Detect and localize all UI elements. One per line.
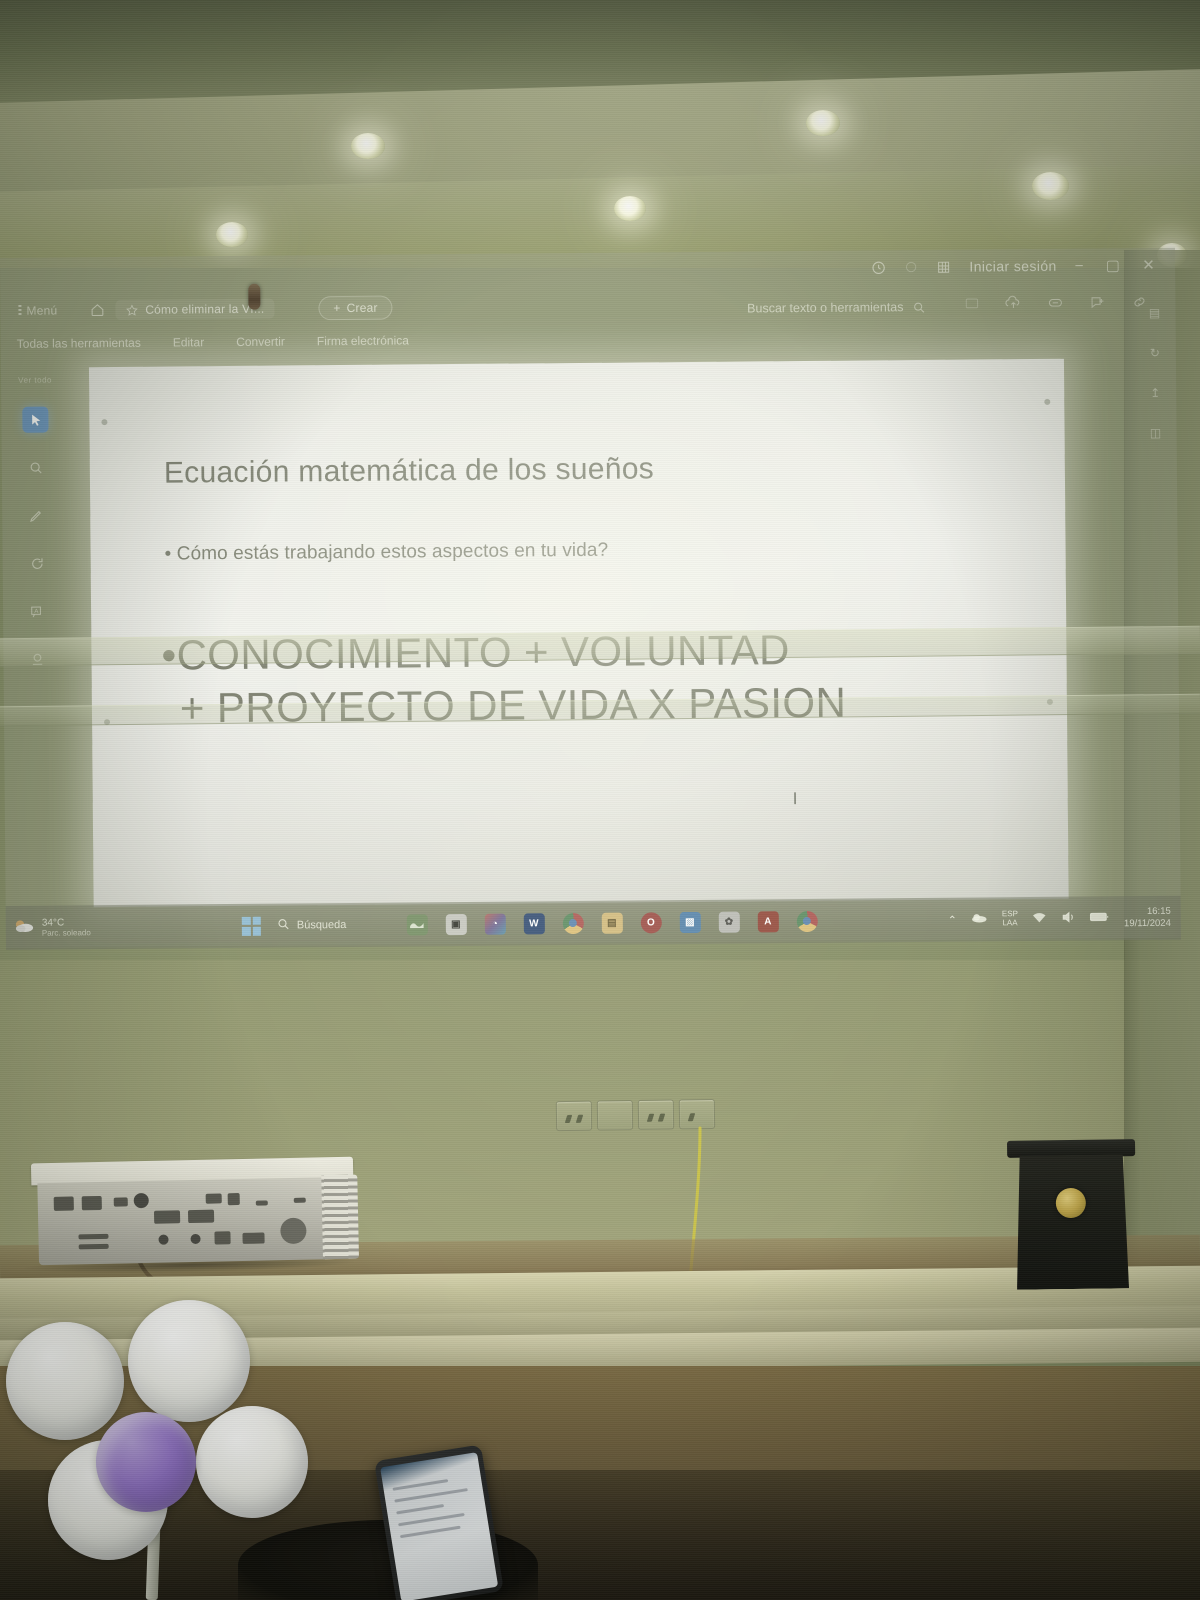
search-placeholder: Buscar texto o herramientas — [747, 300, 903, 315]
copilot-icon[interactable]: ◔ — [484, 913, 505, 934]
weather-condition: Parc. soleado — [42, 928, 91, 937]
taskbar-center: Búsqueda ▣ ◔ W ▤ O ▨ — [242, 910, 818, 936]
ceiling-light — [216, 222, 248, 247]
comment-tool[interactable] — [24, 551, 50, 577]
volume-icon[interactable] — [1061, 911, 1076, 927]
outlet-blank — [597, 1100, 633, 1130]
add-comment-icon[interactable] — [1089, 294, 1105, 310]
usb-port — [114, 1197, 128, 1206]
highlight-icon[interactable] — [1047, 295, 1063, 311]
outlet — [638, 1099, 674, 1129]
dpad-control — [280, 1218, 307, 1245]
placeholder-icon — [904, 260, 918, 274]
vent-grill-left-2 — [79, 1244, 109, 1250]
tablet-device[interactable] — [374, 1444, 504, 1600]
file-explorer-icon[interactable]: ▤ — [601, 912, 622, 933]
vga-port-1 — [154, 1210, 180, 1224]
acrobat-icon[interactable]: A — [757, 911, 778, 932]
sign-in-button[interactable]: Iniciar sesión — [969, 258, 1056, 275]
slide-bullet: • Cómo estás trabajando estos aspectos e… — [164, 540, 608, 566]
menu-label: Menú — [26, 304, 57, 318]
text-cursor: I — [793, 789, 798, 809]
hamburger-icon — [18, 305, 21, 317]
taskbar-clock[interactable]: 16:15 19/11/2024 — [1124, 906, 1171, 930]
serial-port — [82, 1196, 102, 1210]
ceiling-light — [351, 133, 385, 159]
usb-b-port — [214, 1231, 230, 1244]
wifi-icon[interactable] — [1032, 911, 1047, 926]
taskbar-app-icons: ▣ ◔ W ▤ O ▨ ✿ A — [406, 910, 817, 935]
search-icon — [277, 917, 290, 933]
zoom-tool[interactable] — [23, 455, 49, 481]
document-toolbar — [964, 294, 1147, 312]
weather-icon — [14, 917, 36, 938]
text-box-tool[interactable]: A — [24, 599, 50, 625]
button-menu — [256, 1200, 268, 1205]
taskbar-search[interactable]: Búsqueda — [277, 917, 347, 934]
rotate-icon[interactable]: ↻ — [1150, 346, 1160, 360]
page-marker — [101, 419, 107, 425]
balloon-white — [196, 1406, 308, 1518]
tablet-text-line — [392, 1479, 448, 1491]
lectern-body — [1015, 1154, 1129, 1290]
system-tray: ⌃ ESP LAA — [948, 906, 1171, 932]
draw-tool[interactable] — [23, 503, 49, 529]
vent-grill-left — [78, 1234, 108, 1240]
page-marker — [1044, 399, 1050, 405]
power-port — [228, 1193, 240, 1205]
svg-text:A: A — [34, 609, 38, 615]
vga-port-2 — [188, 1210, 214, 1224]
outlet-in-use — [679, 1099, 715, 1129]
export-icon[interactable]: ↥ — [1150, 386, 1160, 400]
widgets-icon[interactable] — [406, 914, 427, 935]
opera-icon[interactable]: O — [640, 912, 661, 933]
hdmi-port — [206, 1193, 222, 1203]
tablet-screen[interactable] — [380, 1452, 498, 1600]
language-indicator[interactable]: ESP LAA — [1002, 910, 1018, 928]
search-icon[interactable] — [912, 300, 925, 313]
clock-time: 16:15 — [1124, 906, 1171, 918]
tablet-text-line — [398, 1513, 465, 1526]
weather-temperature: 34°C — [42, 917, 91, 929]
serial-port-2 — [242, 1233, 264, 1244]
rail-label: Ver todo — [18, 376, 52, 385]
chrome-2-icon[interactable] — [796, 910, 817, 931]
chevron-up-icon[interactable]: ⌃ — [948, 913, 957, 926]
ceiling-light — [614, 196, 646, 221]
slide-title: Ecuación matemática de los sueños — [164, 452, 654, 490]
grid-icon[interactable] — [936, 259, 951, 274]
balloon-purple-center — [96, 1412, 196, 1512]
insect-on-wall — [248, 284, 260, 310]
language-line2: LAA — [1002, 919, 1018, 928]
chrome-icon[interactable] — [562, 912, 583, 933]
home-icon[interactable] — [89, 302, 105, 318]
balloon-white — [6, 1322, 124, 1440]
menu-item-all-tools[interactable]: Todas las herramientas — [17, 336, 141, 351]
tab-label: Cómo eliminar la VI... — [145, 302, 264, 317]
room-scene: Iniciar sesión − ▢ ✕ Menú — [0, 0, 1200, 1600]
weather-widget[interactable]: 34°C Parc. soleado — [14, 917, 91, 939]
ceiling-light — [806, 110, 840, 136]
taskbar-search-label: Búsqueda — [297, 919, 347, 931]
task-view-icon[interactable]: ▣ — [445, 913, 466, 934]
word-icon[interactable]: W — [523, 913, 544, 934]
battery-icon[interactable] — [1090, 911, 1110, 925]
projector-rear-panel — [37, 1177, 339, 1265]
projected-screen: Iniciar sesión − ▢ ✕ Menú — [0, 248, 1181, 948]
sidebar-icon[interactable]: ▤ — [1149, 306, 1160, 320]
projector-vent — [321, 1175, 359, 1260]
maximize-button[interactable]: ▢ — [1106, 256, 1121, 274]
organize-icon[interactable]: ◫ — [1150, 426, 1161, 440]
search-input[interactable]: Buscar texto o herramientas — [747, 300, 925, 316]
menu-item-esign[interactable]: Firma electrónica — [317, 333, 409, 348]
create-label: Crear — [347, 301, 378, 315]
clock-date: 19/11/2024 — [1124, 918, 1171, 930]
outlet — [556, 1101, 592, 1131]
lan-port — [54, 1196, 74, 1210]
ceiling-light — [1032, 172, 1069, 200]
window-top-right: Iniciar sesión − ▢ ✕ — [871, 256, 1155, 276]
cloud-icon[interactable] — [971, 912, 988, 926]
windows-logo-icon[interactable] — [242, 916, 261, 935]
balloon-white — [128, 1300, 250, 1422]
tablet-text-line — [396, 1504, 444, 1514]
tablet-text-line — [394, 1488, 467, 1502]
tablet-text-line — [400, 1526, 461, 1538]
button-power — [294, 1198, 306, 1203]
audio-jack-2 — [190, 1234, 200, 1244]
projector — [27, 1157, 359, 1269]
select-tool[interactable] — [22, 407, 48, 433]
cable-knob — [134, 1193, 149, 1208]
acrobat-window: Iniciar sesión − ▢ ✕ Menú — [0, 248, 1181, 948]
clock-icon[interactable] — [871, 260, 886, 275]
plus-icon: + — [333, 301, 340, 315]
close-button[interactable]: ✕ — [1142, 256, 1155, 274]
menu-button[interactable]: Menú — [18, 304, 57, 318]
share-upload-icon[interactable] — [1005, 295, 1021, 311]
right-tool-rail: ▤ ↻ ↥ ◫ — [1139, 306, 1170, 440]
star-icon[interactable] — [125, 303, 138, 316]
menu-item-edit[interactable]: Editar — [173, 335, 204, 349]
lectern — [1015, 1139, 1129, 1289]
menu-item-convert[interactable]: Convertir — [236, 335, 285, 349]
wall-outlets — [556, 1099, 716, 1135]
settings-icon[interactable]: ✿ — [718, 911, 739, 932]
create-button[interactable]: + Crear — [318, 296, 392, 321]
comment-icon[interactable] — [964, 296, 979, 311]
audio-jack-1 — [158, 1235, 168, 1245]
photos-icon[interactable]: ▨ — [679, 911, 700, 932]
minimize-button[interactable]: − — [1075, 257, 1084, 274]
left-tool-rail: Ver todo A — [15, 376, 58, 673]
